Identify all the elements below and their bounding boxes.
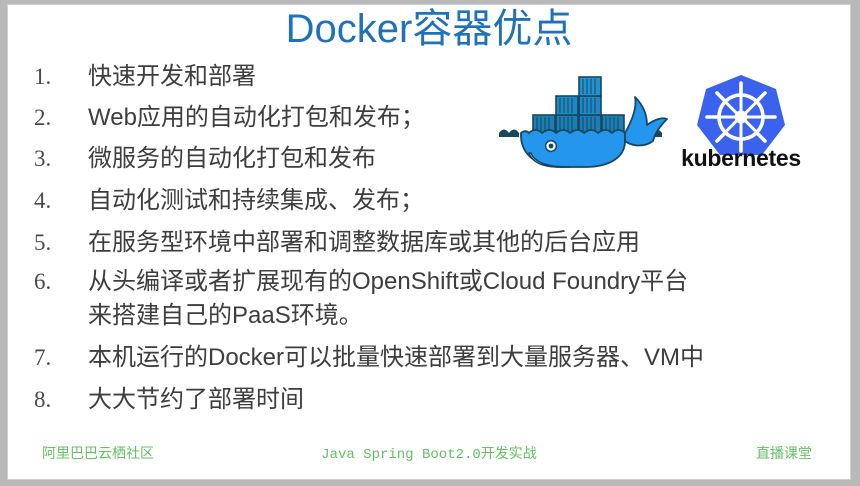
list-item-number: 6. (34, 265, 88, 299)
list-item-label: 大大节约了部署时间 (88, 380, 844, 419)
footer-right-label: 直播课堂 (756, 443, 812, 463)
slide-frame: Docker容器优点 1. 快速开发和部署 2. Web应用的自动化打包和发布；… (0, 0, 860, 486)
list-item-label: 在服务型环境中部署和调整数据库或其他的后台应用 (88, 223, 844, 262)
presentation-slide: Docker容器优点 1. 快速开发和部署 2. Web应用的自动化打包和发布；… (8, 5, 850, 479)
list-item-number: 1. (34, 57, 88, 96)
list-item: 7. 本机运行的Docker可以批量快速部署到大量服务器、VM中 (34, 338, 844, 377)
list-item-label-line2: 来搭建自己的PaaS环境。 (88, 299, 844, 333)
list-item-label: 从头编译或者扩展现有的OpenShift或Cloud Foundry平台 来搭建… (88, 265, 844, 333)
kubernetes-wordmark: kubernetes (663, 145, 819, 172)
footer: 阿里巴巴云栖社区 Java Spring Boot2.0开发实战 直播课堂 (8, 443, 850, 465)
list-item: 6. 从头编译或者扩展现有的OpenShift或Cloud Foundry平台 … (34, 265, 844, 333)
list-item-label-line1: 从头编译或者扩展现有的OpenShift或Cloud Foundry平台 (88, 268, 688, 295)
list-item-label: 自动化测试和持续集成、发布； (88, 181, 844, 220)
list-item-number: 8. (34, 380, 88, 419)
list-item-number: 5. (34, 223, 88, 262)
list-item: 4. 自动化测试和持续集成、发布； (34, 181, 844, 220)
list-item-number: 3. (34, 139, 88, 178)
list-item: 8. 大大节约了部署时间 (34, 380, 844, 419)
list-item-label: 本机运行的Docker可以批量快速部署到大量服务器、VM中 (88, 338, 844, 377)
list-item-number: 7. (34, 338, 88, 377)
list-item: 5. 在服务型环境中部署和调整数据库或其他的后台应用 (34, 223, 844, 262)
docker-whale-icon (495, 67, 670, 172)
list-item-number: 2. (34, 98, 88, 137)
footer-center-label: Java Spring Boot2.0开发实战 (8, 443, 850, 463)
list-item-number: 4. (34, 181, 88, 220)
page-title: Docker容器优点 (8, 5, 850, 53)
